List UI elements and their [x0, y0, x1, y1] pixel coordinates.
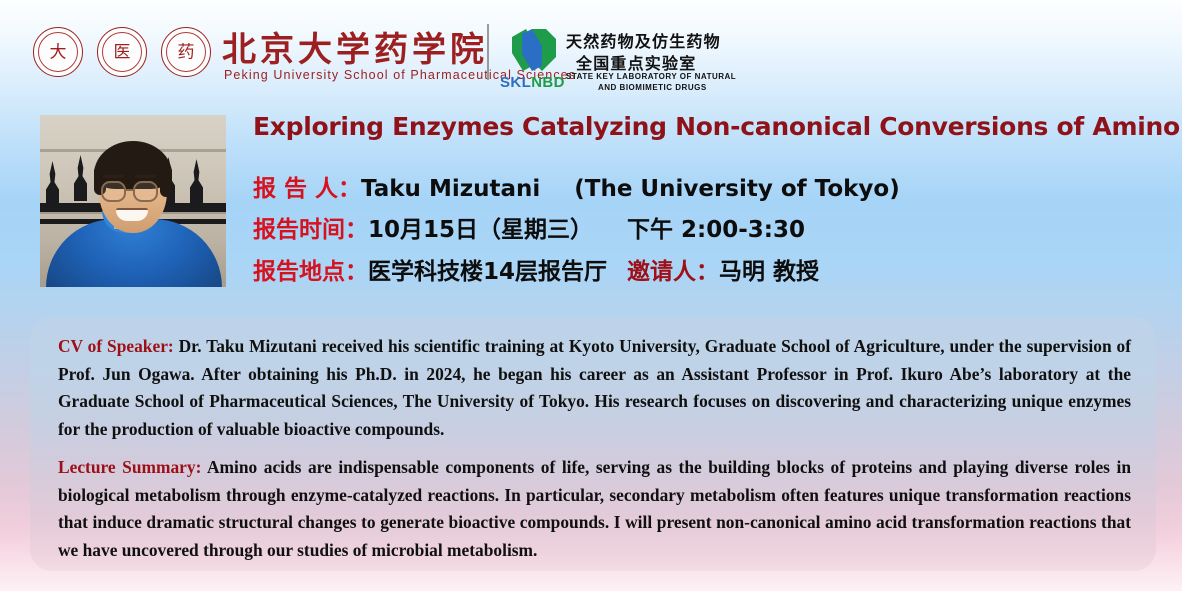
health-science-center-seal-icon: 医 — [97, 27, 147, 77]
abstract-panel: CV of Speaker: Dr. Taku Mizutani receive… — [30, 317, 1156, 571]
page-header: 大 医 药 北京大学药学院 Peking University School o… — [0, 0, 1182, 100]
venue-row: 报告地点：医学科技楼14层报告厅邀请人：马明 教授 — [253, 252, 819, 286]
sklnbd-acronym-skl: SKL — [500, 74, 531, 91]
sklnbd-acronym-nbd: NBD — [531, 74, 565, 91]
lab-name-english-line2: AND BIOMIMETIC DRUGS — [598, 83, 707, 92]
time-row: 报告时间：10月15日（星期三）下午 2:00-3:30 — [253, 210, 805, 244]
school-of-pharmaceutical-sciences-seal-icon: 药 — [161, 27, 211, 77]
photo-person-glasses-bridge — [126, 189, 133, 191]
venue-value: 医学科技楼14层报告厅 — [368, 259, 607, 285]
photo-person-smile — [116, 208, 148, 221]
photo-person-eyebrow-right — [135, 175, 156, 178]
speaker-row: 报 告 人：Taku Mizutani(The University of To… — [253, 169, 900, 203]
peking-university-seal-icon: 大 — [33, 27, 83, 77]
header-divider — [487, 24, 489, 80]
peking-university-seal-glyph: 大 — [50, 44, 67, 61]
speaker-affiliation: (The University of Tokyo) — [574, 176, 899, 202]
time-clock: 下午 2:00-3:30 — [627, 217, 805, 243]
time-label: 报告时间： — [253, 217, 368, 243]
host-label: 邀请人： — [627, 259, 719, 285]
lab-name-chinese-line2: 全国重点实验室 — [576, 50, 696, 74]
photo-person-eyebrow-left — [103, 175, 124, 178]
time-date: 10月15日（星期三） — [368, 217, 593, 243]
lecture-summary-paragraph: Lecture Summary: Amino acids are indispe… — [58, 454, 1131, 564]
speaker-photo — [40, 115, 226, 287]
cv-text: Dr. Taku Mizutani received his scientifi… — [58, 336, 1131, 439]
lab-name-chinese-line1: 天然药物及仿生药物 — [566, 28, 721, 52]
host-value: 马明 教授 — [719, 259, 819, 285]
sklnbd-acronym: SKLNBD — [500, 74, 565, 91]
school-name-chinese: 北京大学药学院 — [222, 22, 488, 71]
photo-person-hair-right — [160, 165, 172, 197]
title-block: Exploring Enzymes Catalyzing Non-canonic… — [253, 112, 1163, 141]
speaker-name: Taku Mizutani — [361, 176, 540, 202]
speaker-label: 报 告 人： — [253, 176, 361, 202]
school-of-pharmaceutical-sciences-seal-glyph: 药 — [178, 44, 195, 61]
summary-text: Amino acids are indispensable components… — [58, 457, 1131, 560]
sklnbd-ribbon-logo-icon — [506, 26, 562, 74]
lab-name-english-line1: STATE KEY LABORATORY OF NATURAL — [566, 72, 736, 81]
seminar-title: Exploring Enzymes Catalyzing Non-canonic… — [253, 112, 1163, 141]
health-science-center-seal-glyph: 医 — [114, 44, 131, 61]
photo-person-glasses-right-lens — [133, 181, 158, 202]
cv-paragraph: CV of Speaker: Dr. Taku Mizutani receive… — [58, 333, 1131, 443]
photo-person-glasses-left-lens — [101, 181, 126, 202]
venue-label: 报告地点： — [253, 259, 368, 285]
summary-label: Lecture Summary: — [58, 457, 201, 477]
cv-label: CV of Speaker: — [58, 336, 174, 356]
